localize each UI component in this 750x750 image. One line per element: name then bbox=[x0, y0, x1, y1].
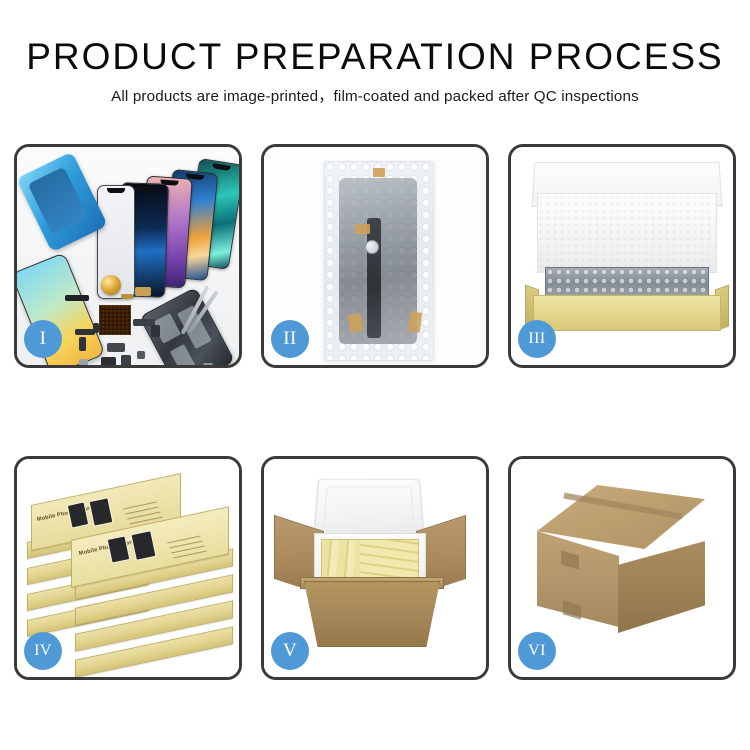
tape-strip bbox=[408, 311, 423, 332]
phone-screen-fan bbox=[95, 159, 239, 279]
small-part bbox=[137, 351, 145, 359]
step-badge-4: IV bbox=[24, 632, 62, 670]
process-step-panel-5[interactable]: V bbox=[261, 456, 489, 680]
step-badge-3: III bbox=[518, 320, 556, 358]
process-step-panel-1[interactable]: I bbox=[14, 144, 242, 368]
process-step-grid: I II bbox=[14, 144, 736, 686]
flex-cable bbox=[367, 218, 381, 338]
page-title: PRODUCT PREPARATION PROCESS bbox=[0, 36, 750, 78]
chip-grid-part bbox=[99, 305, 131, 335]
small-part bbox=[79, 337, 86, 351]
small-part bbox=[135, 287, 151, 296]
box-front-panel bbox=[533, 295, 721, 331]
carton-front-panel bbox=[304, 581, 440, 647]
page-subtitle: All products are image-printed，film-coat… bbox=[0, 87, 750, 107]
process-step-panel-4[interactable]: Mobile Phone Spare Parts Mobile Phone Sp… bbox=[14, 456, 242, 680]
foam-box-lid bbox=[313, 479, 424, 540]
process-step-panel-3[interactable]: III bbox=[508, 144, 736, 368]
small-part bbox=[101, 357, 116, 365]
camera-hole bbox=[365, 240, 379, 254]
small-part bbox=[121, 355, 131, 365]
gold-coil-part bbox=[101, 275, 121, 295]
step-badge-6: VI bbox=[518, 632, 556, 670]
foam-sheet bbox=[537, 193, 717, 273]
small-part bbox=[93, 323, 99, 333]
small-part bbox=[65, 295, 89, 301]
tape-strip bbox=[355, 224, 370, 234]
process-step-panel-2[interactable]: II bbox=[261, 144, 489, 368]
small-part bbox=[121, 294, 133, 299]
small-part bbox=[79, 359, 88, 365]
yellow-boxes-inside bbox=[321, 539, 419, 581]
bubble-wrap-bag bbox=[324, 161, 434, 361]
small-part bbox=[151, 325, 160, 337]
product-preparation-process-page: PRODUCT PREPARATION PROCESS All products… bbox=[0, 0, 750, 750]
header: PRODUCT PREPARATION PROCESS All products… bbox=[0, 36, 750, 107]
small-part bbox=[203, 363, 213, 365]
tape-strip bbox=[373, 168, 385, 177]
step-badge-2: II bbox=[271, 320, 309, 358]
step-badge-1: I bbox=[24, 320, 62, 358]
small-part bbox=[107, 343, 125, 352]
process-step-panel-6[interactable]: VI bbox=[508, 456, 736, 680]
small-part bbox=[75, 329, 95, 335]
step-badge-5: V bbox=[271, 632, 309, 670]
